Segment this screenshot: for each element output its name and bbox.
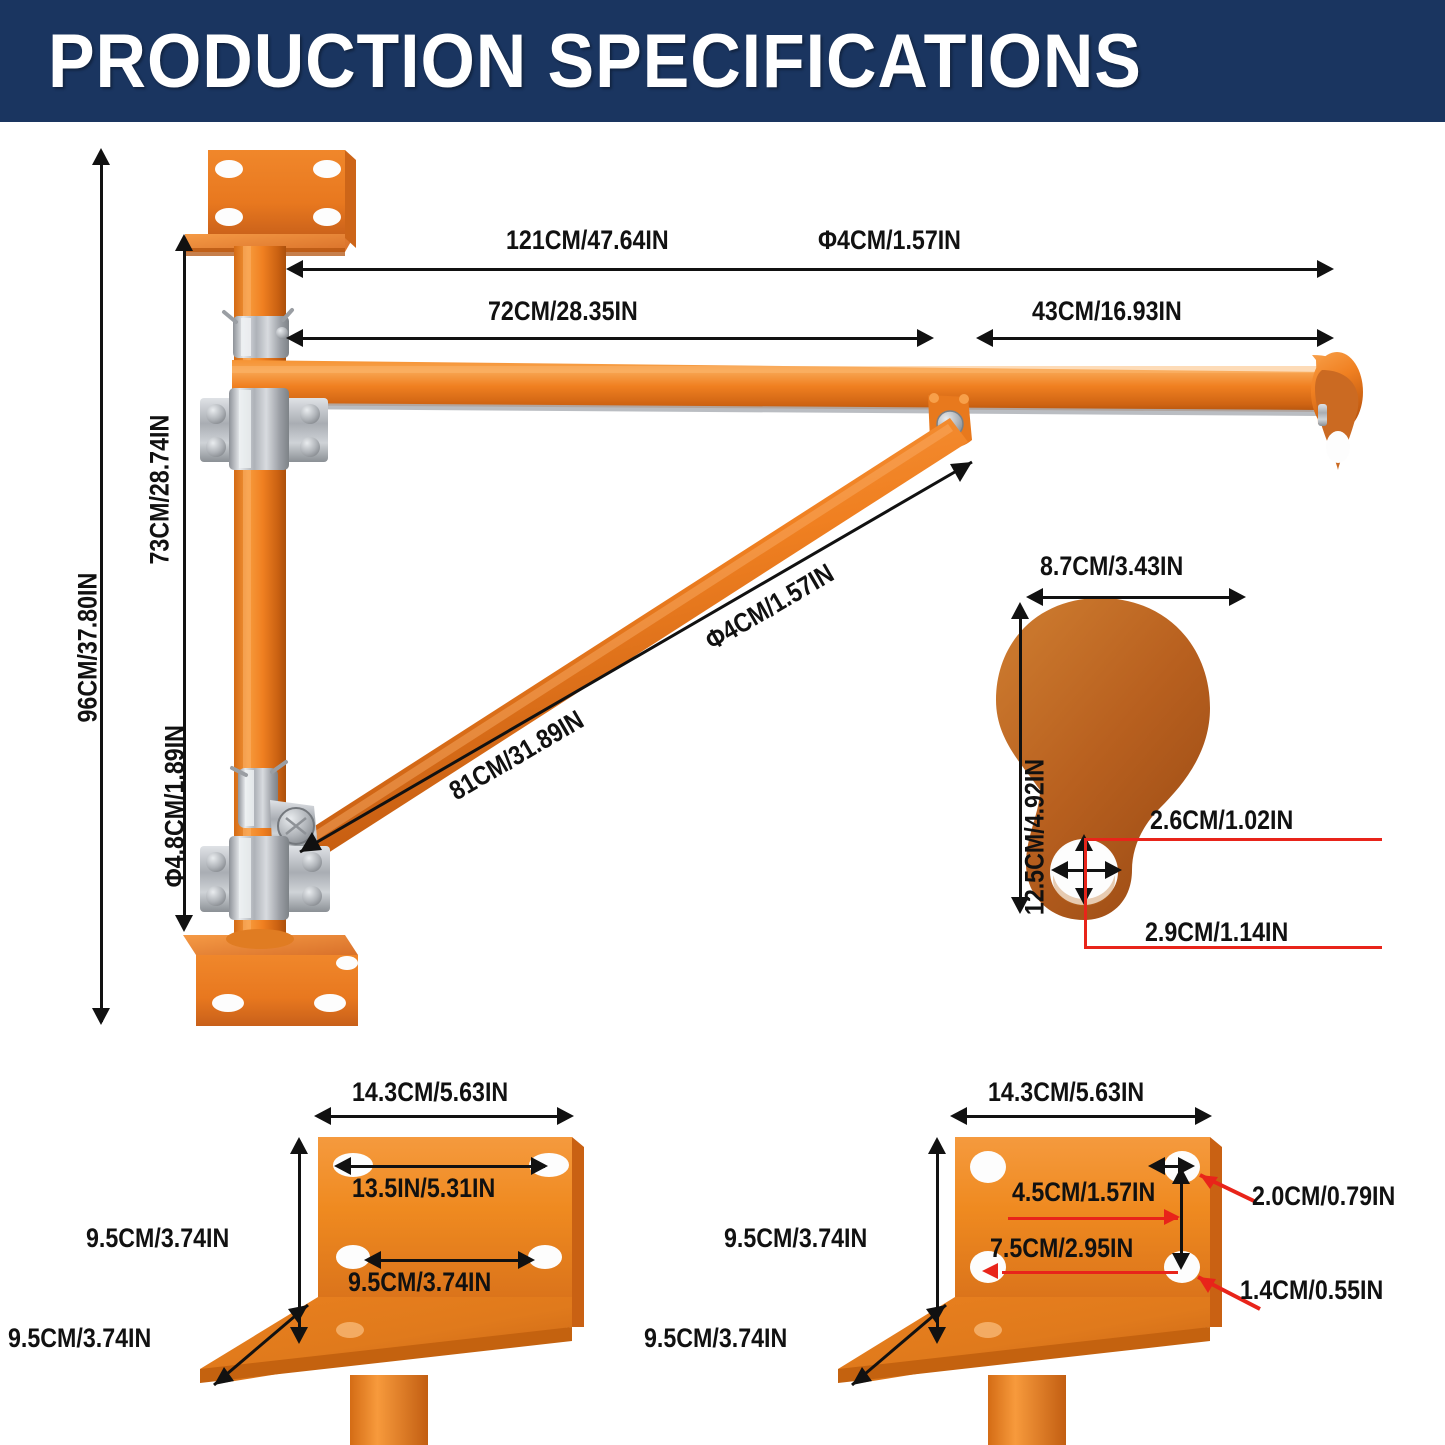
dim-br-plate-width: 14.3CM/5.63IN: [988, 1077, 1144, 1108]
dim-line-plate-width: [1030, 596, 1242, 599]
arrow-right: [1229, 588, 1246, 606]
arrow-up: [290, 1137, 308, 1154]
dim-hole-width: 2.6CM/1.02IN: [1150, 805, 1293, 836]
arrow-left: [334, 1157, 351, 1175]
dim-br-plate-depth: 9.5CM/3.74IN: [644, 1323, 787, 1354]
leader-hole-w-h: [1084, 838, 1382, 841]
dim-post-upper-height: 73CM/28.74IN: [145, 307, 176, 565]
leader-br-hole-h: [1002, 1271, 1178, 1274]
leader-hole-w-v: [1084, 840, 1087, 896]
arrow-right: [518, 1251, 535, 1269]
dim-br-plate-height: 9.5CM/3.74IN: [724, 1223, 867, 1254]
leader-arrow-left: [982, 1263, 998, 1279]
arrow-left: [1148, 1157, 1165, 1175]
dim-br-hole-span-horizontal: 7.5CM/2.95IN: [990, 1233, 1133, 1264]
dim-plate-height: 12.5CM/4.92IN: [1020, 640, 1051, 915]
arrow-down: [1172, 1253, 1190, 1270]
dim-line-br-hole-v: [1180, 1179, 1183, 1263]
dim-line-bl-width: [320, 1115, 570, 1118]
dim-boom-tube-dia: Φ4CM/1.57IN: [818, 225, 961, 256]
dim-bl-plate-width: 14.3CM/5.63IN: [352, 1077, 508, 1108]
arrow-right: [1105, 861, 1122, 879]
arrow-left: [950, 1107, 967, 1125]
dim-bl-hole-span-bottom: 9.5CM/3.74IN: [348, 1267, 491, 1298]
arrow-right: [1317, 329, 1334, 347]
dim-plate-width: 8.7CM/3.43IN: [1040, 551, 1183, 582]
arrow-up: [92, 148, 110, 165]
dim-br-depth-group: [838, 1297, 958, 1397]
leader-br-hole-v: [1008, 1217, 1178, 1220]
dim-line-bl-hole-bottom: [370, 1259, 530, 1262]
leader-hole-h-v: [1084, 894, 1087, 948]
dim-br-hole-dia: 1.4CM/0.55IN: [1240, 1275, 1383, 1306]
dim-brace-group: [278, 450, 998, 870]
arrow-right: [531, 1157, 548, 1175]
dim-bl-depth-group: [200, 1297, 320, 1397]
arrow-up: [928, 1137, 946, 1154]
dim-post-total-height: 96CM/37.80IN: [73, 465, 104, 723]
arrow-left: [286, 260, 303, 278]
arrow-down: [175, 915, 193, 932]
leader-br-hole-edge: [1192, 1171, 1260, 1207]
dim-line-boom-outer: [980, 337, 1330, 340]
dim-br-hole-edge-top: 2.0CM/0.79IN: [1252, 1181, 1395, 1212]
dim-line-bl-hole-top: [340, 1165, 545, 1168]
arrow-right: [917, 329, 934, 347]
arrow-right: [557, 1107, 574, 1125]
dim-line-boom-inner: [290, 337, 930, 340]
bracket-right-diagram: 14.3CM/5.63IN 9.5CM/3.74IN 9.5CM/3.74IN …: [740, 1075, 1445, 1445]
arrow-up: [175, 234, 193, 251]
arrow-left: [976, 329, 993, 347]
arrow-right: [1195, 1107, 1212, 1125]
arrow-left: [314, 1107, 331, 1125]
arrow-up: [1011, 602, 1029, 619]
dim-line-br-width: [956, 1115, 1208, 1118]
arrow-left: [286, 329, 303, 347]
dim-line-boom-total: [290, 268, 1330, 271]
dim-hole-height: 2.9CM/1.14IN: [1145, 917, 1288, 948]
dim-boom-inner: 72CM/28.35IN: [488, 296, 638, 327]
dim-br-hole-span-vertical: 4.5CM/1.57IN: [1012, 1177, 1155, 1208]
dim-bl-hole-span-top: 13.5IN/5.31IN: [352, 1173, 495, 1204]
arrow-down: [92, 1008, 110, 1025]
dim-boom-outer: 43CM/16.93IN: [1032, 296, 1182, 327]
arrow-right: [1317, 260, 1334, 278]
dim-bl-plate-height: 9.5CM/3.74IN: [86, 1223, 229, 1254]
main-assembly-diagram: 121CM/47.64IN Φ4CM/1.57IN 72CM/28.35IN 4…: [0, 0, 1445, 1050]
leader-arrow-right: [1164, 1209, 1180, 1225]
dim-post-dia: Φ4.8CM/1.89IN: [160, 604, 191, 888]
dim-boom-total: 121CM/47.64IN: [506, 225, 669, 256]
arrow-left: [1051, 861, 1068, 879]
bracket-left-diagram: 14.3CM/5.63IN 9.5CM/3.74IN 13.5IN/5.31IN…: [60, 1075, 700, 1445]
dim-bl-plate-depth: 9.5CM/3.74IN: [8, 1323, 151, 1354]
